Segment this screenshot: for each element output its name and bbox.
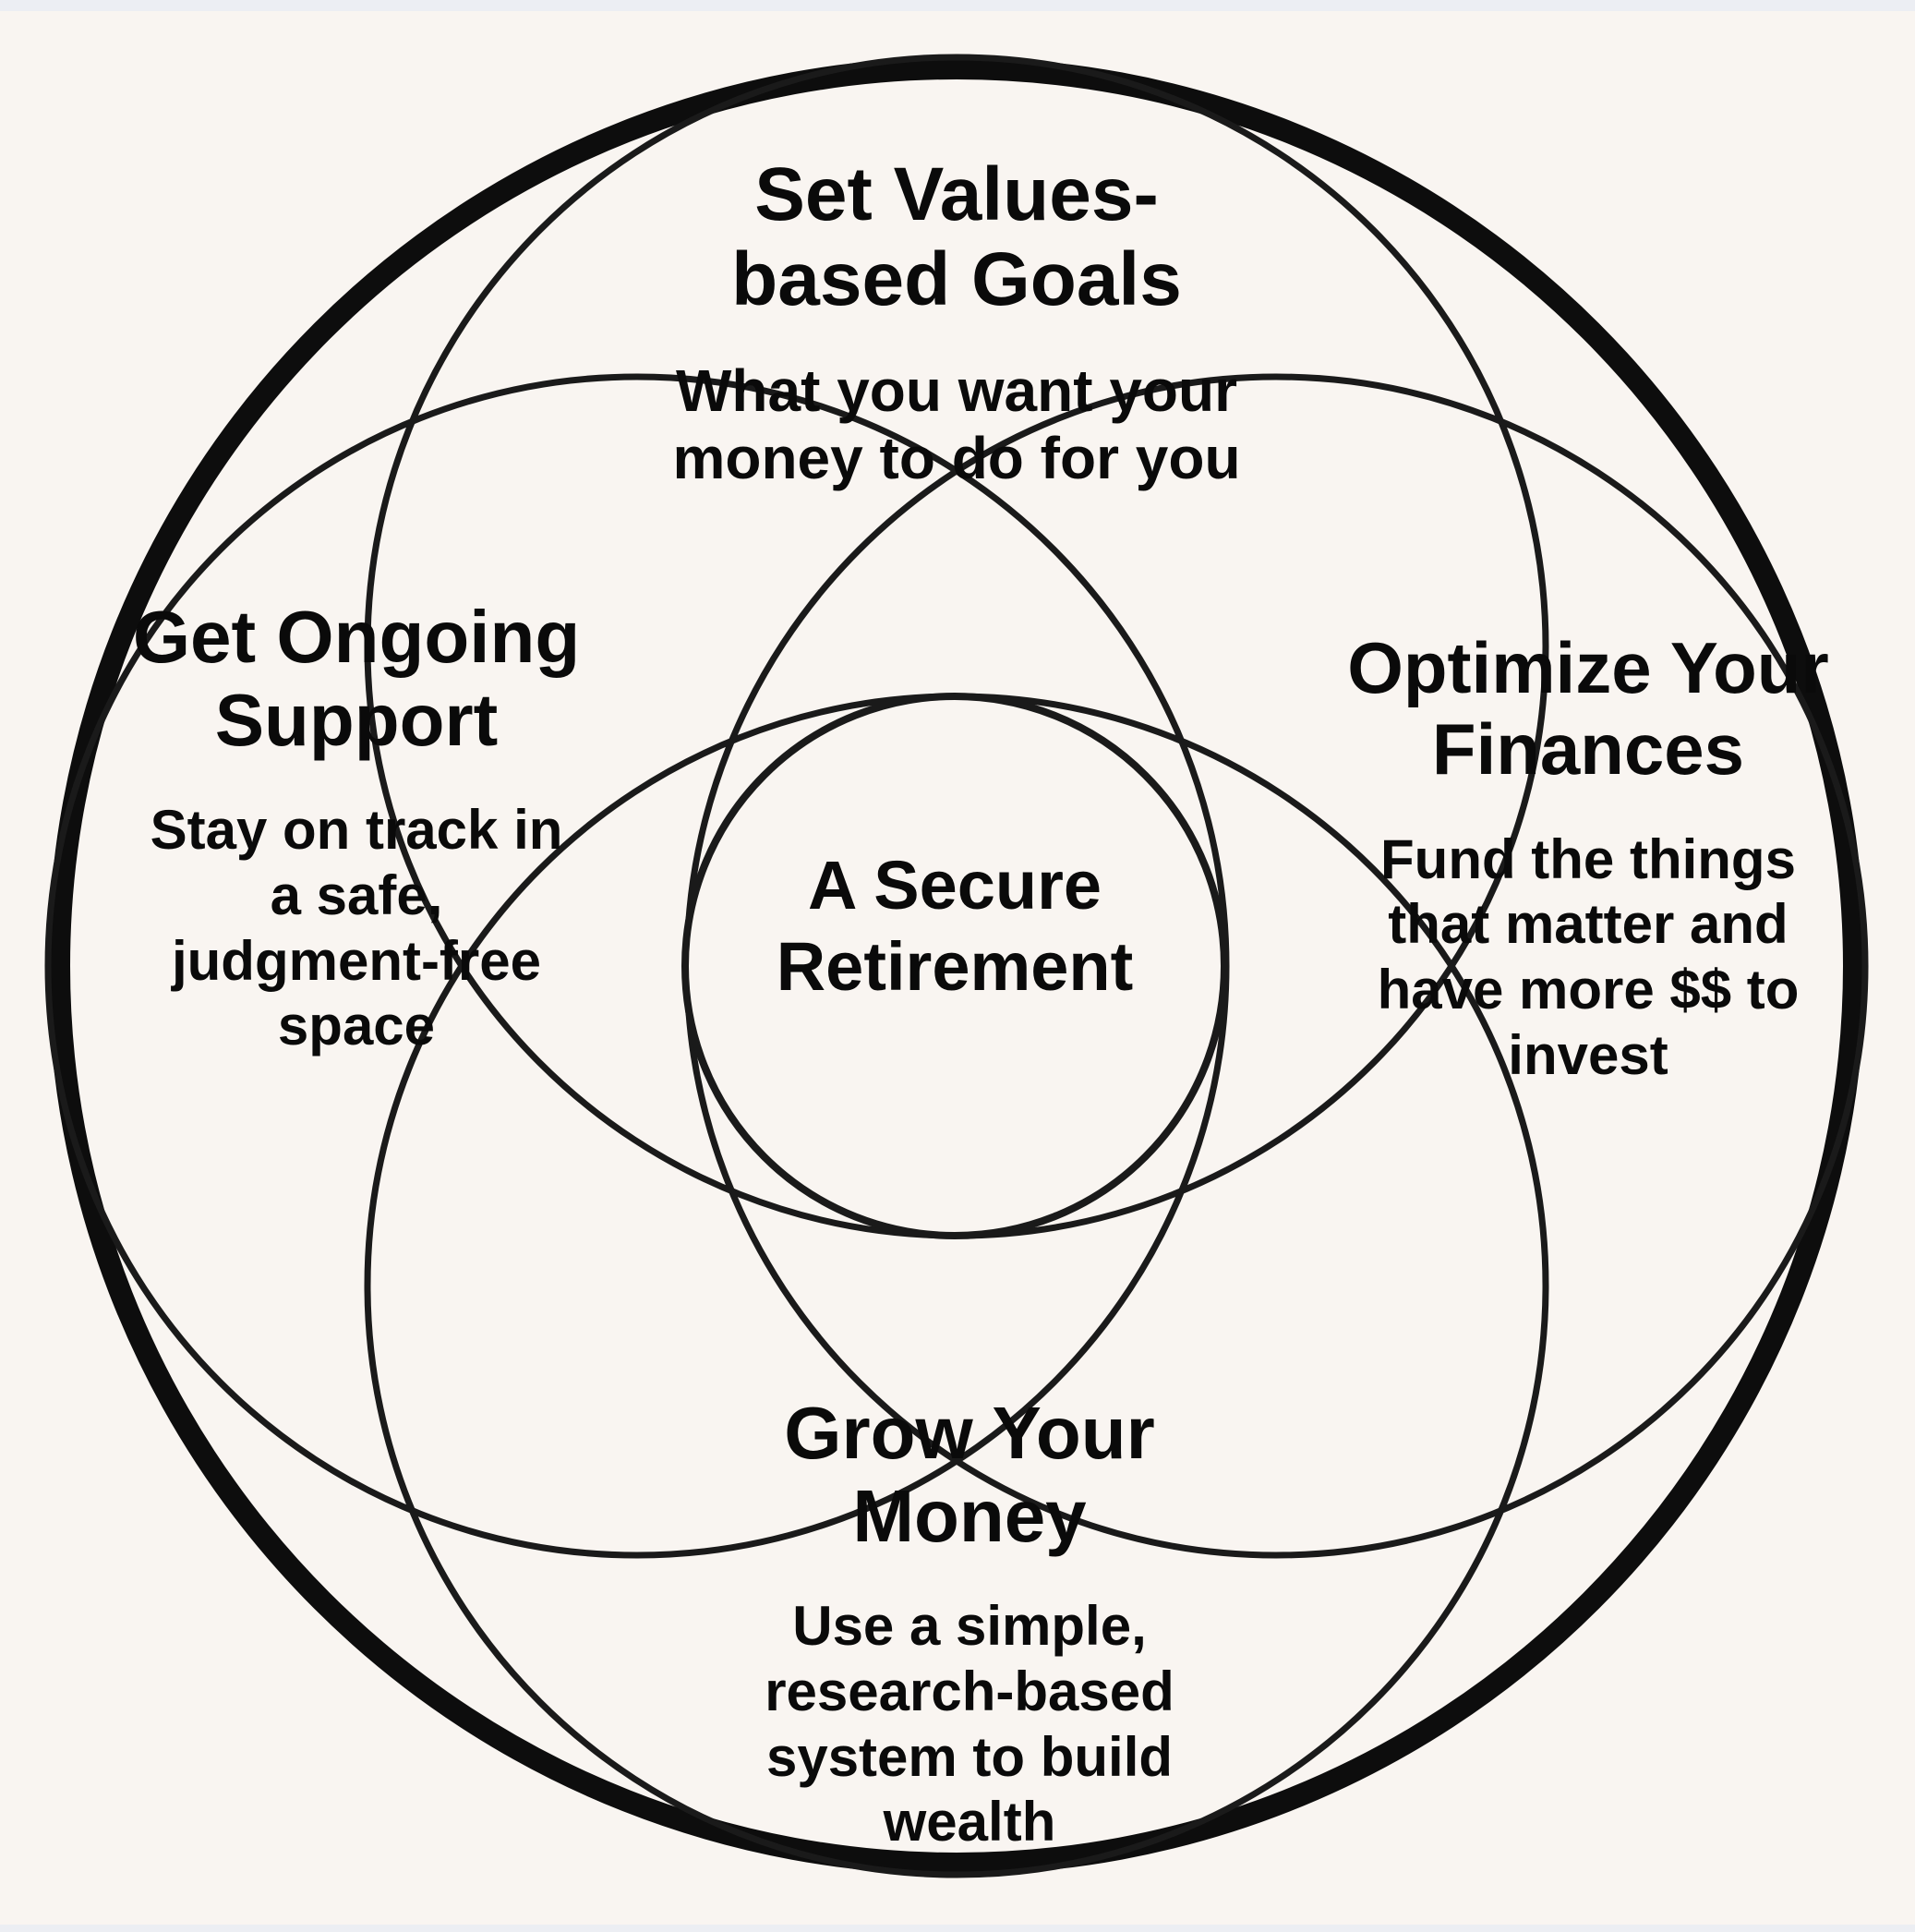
center-label-text: A Secure Retirement [678, 845, 1232, 1007]
petal-subtitle-top: What you want your money to do for you [523, 357, 1391, 492]
petal-subtitle-right: Fund the things that matter and have mor… [1293, 827, 1884, 1089]
petal-title-left: Get Ongoing Support [52, 596, 661, 763]
petal-subtitle-left: Stay on track in a safe, judgment-free s… [52, 798, 661, 1059]
petal-title-bottom: Grow Your Money [674, 1392, 1265, 1559]
diagram-canvas: A Secure Retirement Set Values- based Go… [0, 0, 1915, 1932]
petal-label-left: Get Ongoing Support Stay on track in a s… [52, 580, 661, 1075]
petal-label-right: Optimize Your Finances Fund the things t… [1293, 611, 1884, 1104]
petal-title-top: Set Values- based Goals [523, 152, 1391, 323]
petal-subtitle-bottom: Use a simple, research-based system to b… [674, 1594, 1265, 1855]
petal-label-top: Set Values- based Goals What you want yo… [523, 137, 1391, 507]
petal-label-bottom: Grow Your Money Use a simple, research-b… [674, 1376, 1265, 1871]
petal-title-right: Optimize Your Finances [1293, 627, 1884, 790]
center-label: A Secure Retirement [678, 765, 1232, 1087]
